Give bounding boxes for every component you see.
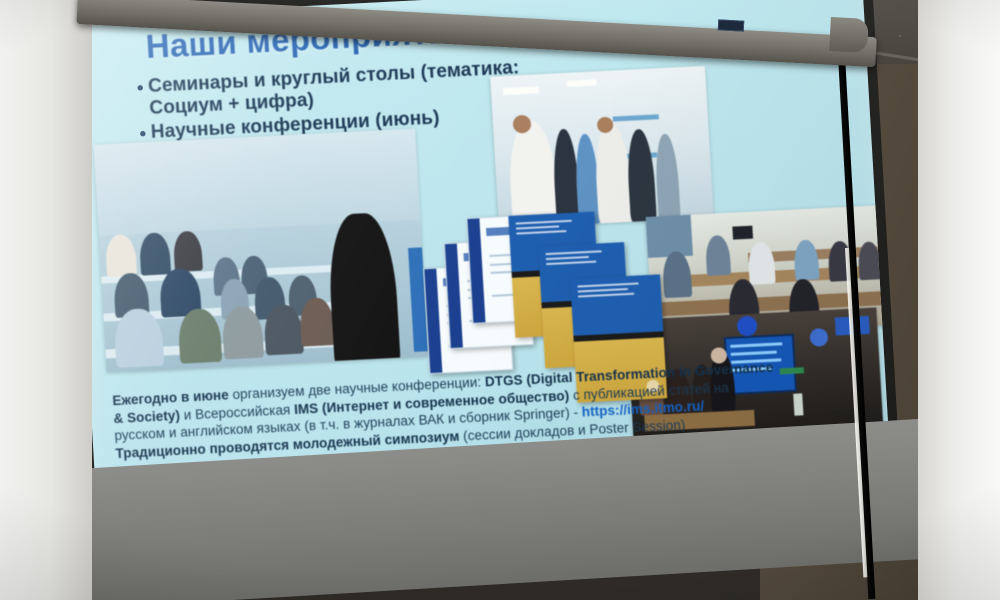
paragraph-bold-society: & Society) [113,407,180,425]
presentation-slide: Наши мероприятия • Семинары и круглый ст… [68,0,890,497]
right-wall [918,0,1000,600]
projected-slide-photo: Наши мероприятия • Семинары и круглый ст… [0,0,1000,600]
bullet-dot-icon: • [132,76,149,99]
roller-indicator-icon [718,19,745,31]
left-wall [0,0,92,600]
roller-end-cap [829,17,869,53]
photo-lecture-hall-audience [93,129,428,373]
photo-poster-session [490,66,714,229]
